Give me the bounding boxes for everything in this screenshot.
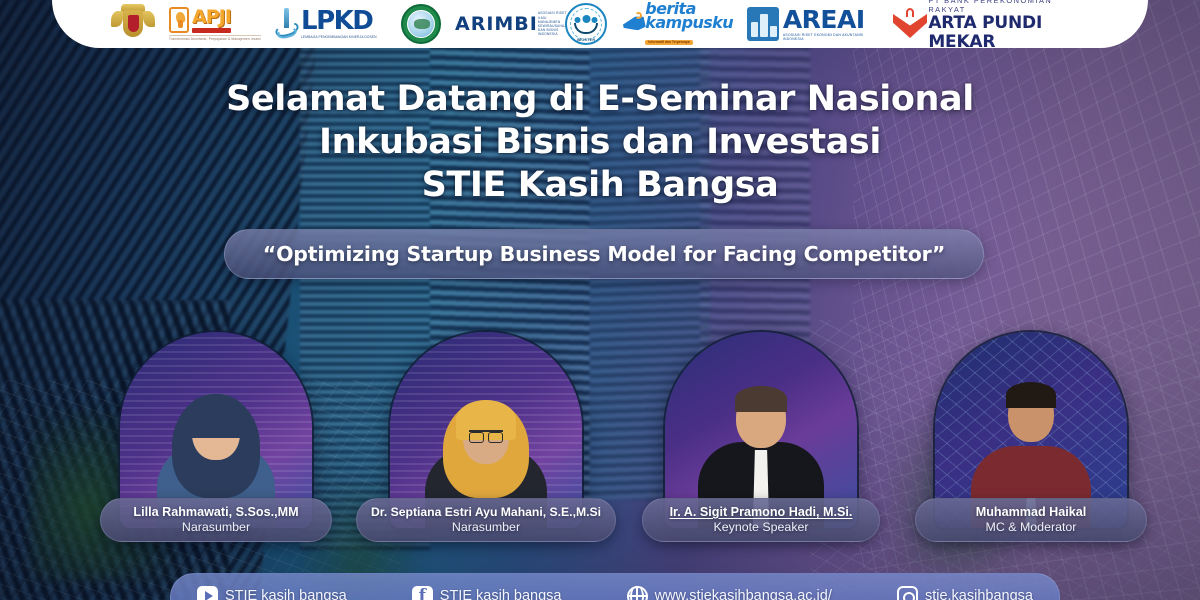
apji-red-bar [192, 28, 231, 33]
speaker-role-4: MC & Moderator [986, 520, 1077, 535]
social-label-instagram: stie.kasihbangsa [925, 588, 1033, 600]
speaker-nameplate-2: Dr. Septiana Estri Ayu Mahani, S.E.,M.Si… [356, 498, 616, 542]
social-item-facebook[interactable]: f STIE kasih bangsa [412, 586, 562, 600]
social-label-facebook: STIE kasih bangsa [440, 588, 562, 600]
speaker-nameplate-3: Ir. A. Sigit Pramono Hadi, M.Si. Keynote… [642, 498, 880, 542]
speaker-card-1[interactable]: Lilla Rahmawati, S.Sos.,MM Narasumber [100, 330, 332, 560]
theme-banner: “Optimizing Startup Business Model for F… [224, 229, 984, 279]
social-label-website: www.stiekasihbangsa.ac.id/ [655, 588, 832, 600]
social-media-bar: STIE kasih bangsa f STIE kasih bangsa ww… [170, 573, 1060, 600]
imoster-wordmark: IMOSTER [565, 38, 607, 42]
bank-leaf-icon [893, 8, 922, 40]
areai-building-icon [747, 7, 779, 41]
arta-pundi-mekar-logo: PT BANK PEREKONOMIAN RAKYAT ARTA PUNDI M… [893, 3, 1089, 45]
title-line-1: Selamat Datang di E-Seminar Nasional [0, 78, 1200, 121]
youtube-icon [197, 586, 218, 600]
speaker-name-1: Lilla Rahmawati, S.Sos.,MM [133, 505, 298, 520]
crest-shield [123, 10, 143, 37]
facebook-icon: f [412, 586, 433, 600]
lpkd-tagline: LEMBAGA PENGEMBANGAN KINERJA DOSEN [301, 36, 377, 39]
speaker-grid: Lilla Rahmawati, S.Sos.,MM Narasumber Dr… [0, 330, 1200, 560]
social-item-instagram[interactable]: stie.kasihbangsa [897, 586, 1033, 600]
berita-kampusku-logo: berita kampusku Informatif dan Terpercay… [621, 3, 733, 45]
areai-tagline: ASOSIASI RISET EKONOMI DAN AKUNTANSI IND… [783, 34, 879, 41]
sponsor-logo-bar: APJI Transformasi Akuntansi, Perpajakan … [52, 0, 1148, 48]
speaker-nameplate-4: Muhammad Haikal MC & Moderator [915, 498, 1147, 542]
speaker-role-1: Narasumber [182, 520, 250, 535]
crest-wing-left [111, 11, 123, 27]
speaker-name-4: Muhammad Haikal [976, 505, 1087, 520]
lpkd-logo: LPKD LEMBAGA PENGEMBANGAN KINERJA DOSEN [275, 3, 387, 45]
social-item-website[interactable]: www.stiekasihbangsa.ac.id/ [627, 586, 832, 600]
apji-ornament-icon [169, 7, 189, 33]
berita-wordmark-line2: kampusku [645, 15, 733, 31]
speaker-role-2: Narasumber [452, 520, 520, 535]
instagram-icon [897, 586, 918, 600]
social-item-youtube[interactable]: STIE kasih bangsa [197, 586, 347, 600]
megaphone-icon [621, 11, 643, 37]
lpkd-swirl-icon [275, 8, 299, 40]
speaker-card-3[interactable]: Ir. A. Sigit Pramono Hadi, M.Si. Keynote… [645, 330, 877, 560]
berita-tagline: Informatif dan Terpercaya [645, 40, 692, 45]
bank-name-line2: ARTA PUNDI MEKAR [928, 14, 1089, 48]
apji-logo: APJI Transformasi Akuntansi, Perpajakan … [169, 3, 261, 45]
arimbi-logo: ARIMBI ASOSIASI RISET ILMU MANAJEMEN KEW… [455, 3, 551, 45]
lpkd-wordmark: LPKD [301, 8, 377, 34]
areai-logo: AREAI ASOSIASI RISET EKONOMI DAN AKUNTAN… [747, 3, 879, 45]
speaker-card-4[interactable]: Muhammad Haikal MC & Moderator [915, 330, 1147, 560]
apji-wordmark: APJI [192, 7, 231, 27]
areai-wordmark: AREAI [783, 7, 879, 32]
speaker-role-3: Keynote Speaker [713, 520, 808, 535]
apji-tagline: Transformasi Akuntansi, Perpajakan & Man… [169, 35, 261, 41]
imoster-logo: IMOSTER [565, 3, 607, 45]
theme-banner-text: “Optimizing Startup Business Model for F… [263, 242, 945, 266]
kemenag-crest-logo [111, 3, 155, 45]
institution-seal-logo [401, 4, 441, 44]
bank-name-line1: PT BANK PEREKONOMIAN RAKYAT [928, 0, 1089, 14]
speaker-card-2[interactable]: Dr. Septiana Estri Ayu Mahani, S.E.,M.Si… [370, 330, 602, 560]
globe-icon [627, 586, 648, 600]
imoster-people-icon [575, 15, 598, 23]
title-line-2: Inkubasi Bisnis dan Investasi [0, 121, 1200, 164]
title-line-3: STIE Kasih Bangsa [0, 164, 1200, 207]
speaker-nameplate-1: Lilla Rahmawati, S.Sos.,MM Narasumber [100, 498, 332, 542]
speaker-name-2: Dr. Septiana Estri Ayu Mahani, S.E.,M.Si [371, 505, 601, 520]
arimbi-wordmark: ARIMBI [455, 15, 538, 34]
crest-wing-right [143, 11, 155, 27]
page-title: Selamat Datang di E-Seminar Nasional Ink… [0, 78, 1200, 207]
social-label-youtube: STIE kasih bangsa [225, 588, 347, 600]
speaker-name-3: Ir. A. Sigit Pramono Hadi, M.Si. [670, 505, 853, 520]
